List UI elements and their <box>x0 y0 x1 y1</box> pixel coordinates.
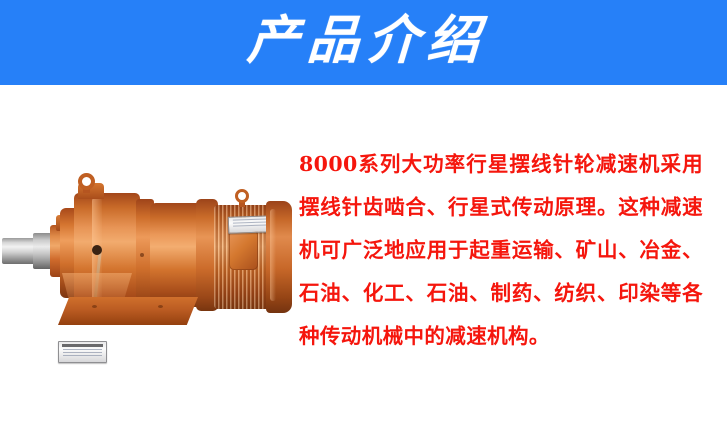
page-title: 产品介绍 <box>238 15 489 71</box>
mounting-base <box>58 297 198 325</box>
motor-lifting-eye-icon <box>235 189 249 203</box>
lifting-eye-icon <box>78 173 95 190</box>
fan-cover-highlight <box>270 209 276 301</box>
nameplate-line <box>63 349 102 351</box>
mounting-base-top <box>62 273 132 301</box>
mounting-hole <box>92 305 97 308</box>
product-image <box>0 105 300 385</box>
product-description: 8000系列大功率行星摆线针轮减速机采用摆线针齿啮合、行星式传动原理。这种减速机… <box>299 143 703 358</box>
reducer-nameplate <box>58 341 107 363</box>
header-banner: 产品介绍 <box>0 0 727 85</box>
nameplate-line <box>63 352 102 354</box>
product-description-text: 8000系列大功率行星摆线针轮减速机采用摆线针齿啮合、行星式传动原理。这种减速机… <box>299 143 703 358</box>
nameplate-line <box>63 355 102 357</box>
mounting-hole <box>158 305 163 308</box>
content-area: 8000系列大功率行星摆线针轮减速机采用摆线针齿啮合、行星式传动原理。这种减速机… <box>0 85 727 427</box>
nameplate-header-bar <box>62 344 103 347</box>
housing-bolt <box>140 253 144 257</box>
terminal-box <box>229 230 258 270</box>
rod-knob-upper <box>92 245 102 255</box>
